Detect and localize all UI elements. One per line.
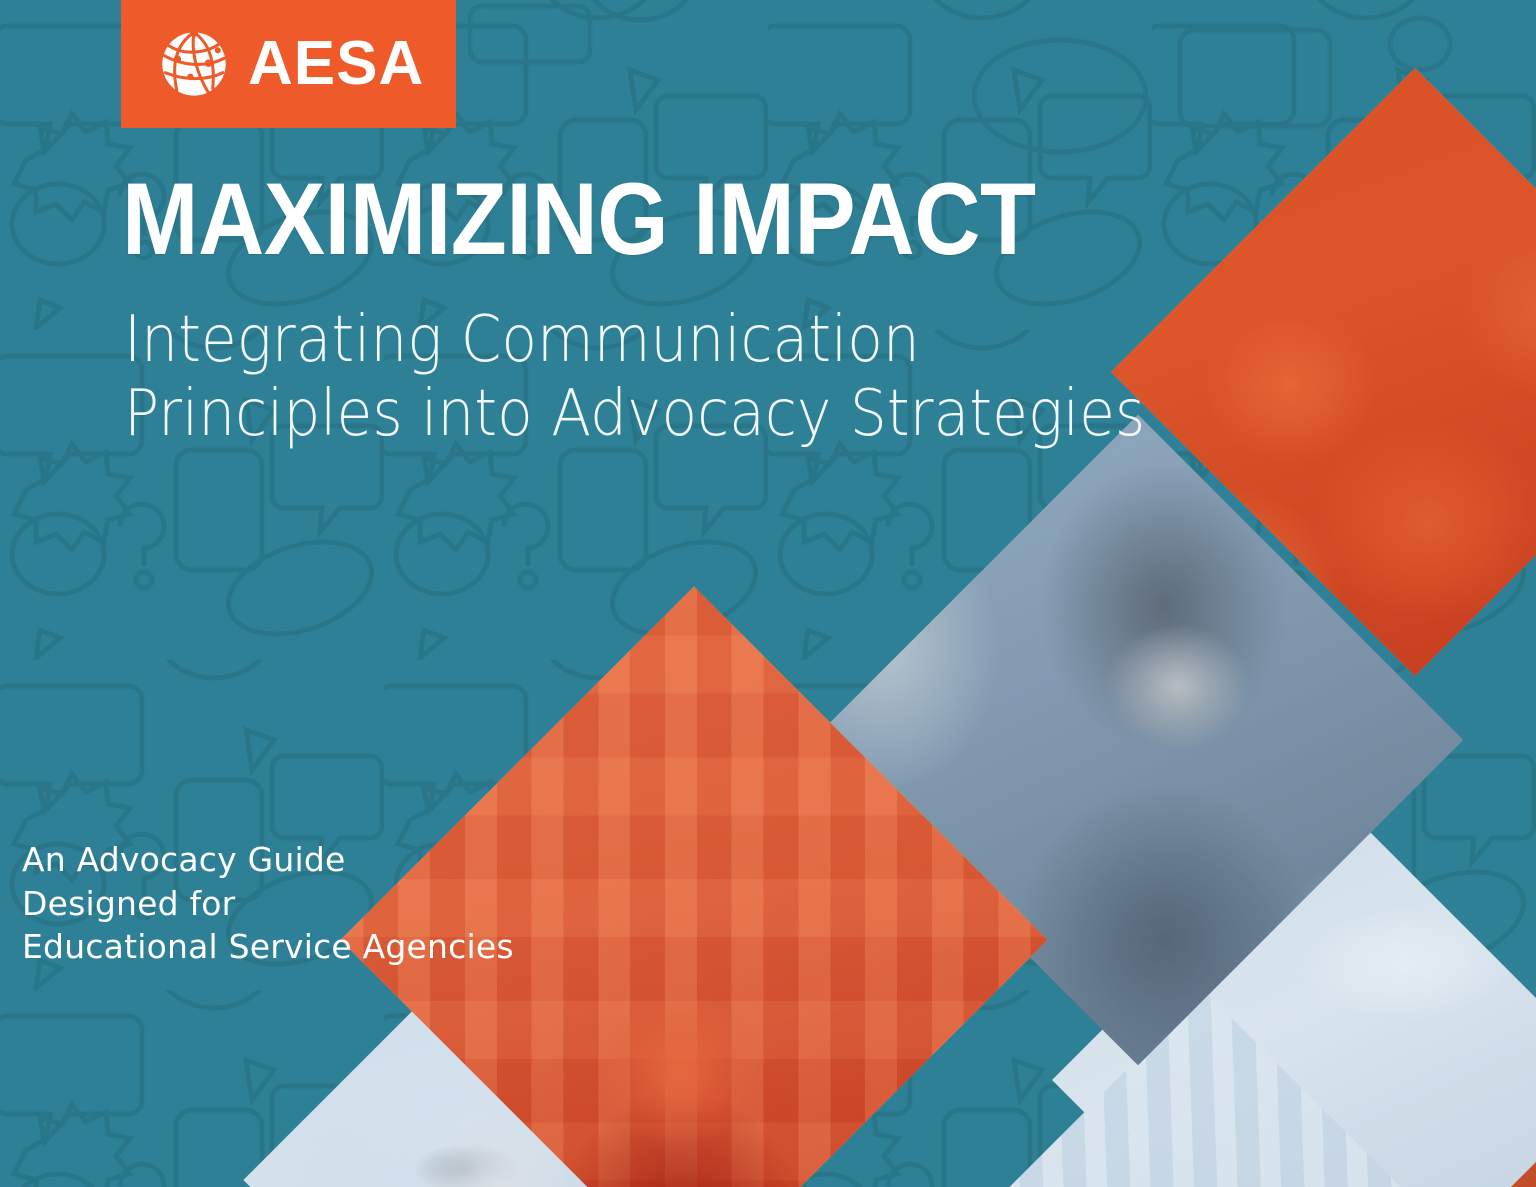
caption-line-3: Educational Service Agencies [22, 925, 514, 969]
cover-caption: An Advocacy Guide Designed for Education… [22, 838, 514, 969]
aesa-wordmark: AESA [248, 33, 424, 95]
subtitle-line-1: Integrating Communication [124, 303, 1145, 377]
aesa-logo-block[interactable]: AESA [121, 0, 456, 128]
page-subtitle: Integrating Communication Principles int… [124, 303, 1145, 451]
report-cover: AESA MAXIMIZING IMPACT Integrating Commu… [0, 0, 1536, 1187]
caption-line-2: Designed for [22, 882, 514, 926]
subtitle-line-2: Principles into Advocacy Strategies [124, 377, 1145, 451]
page-title: MAXIMIZING IMPACT [122, 168, 1036, 270]
globe-icon [158, 28, 230, 100]
caption-line-1: An Advocacy Guide [22, 838, 514, 882]
